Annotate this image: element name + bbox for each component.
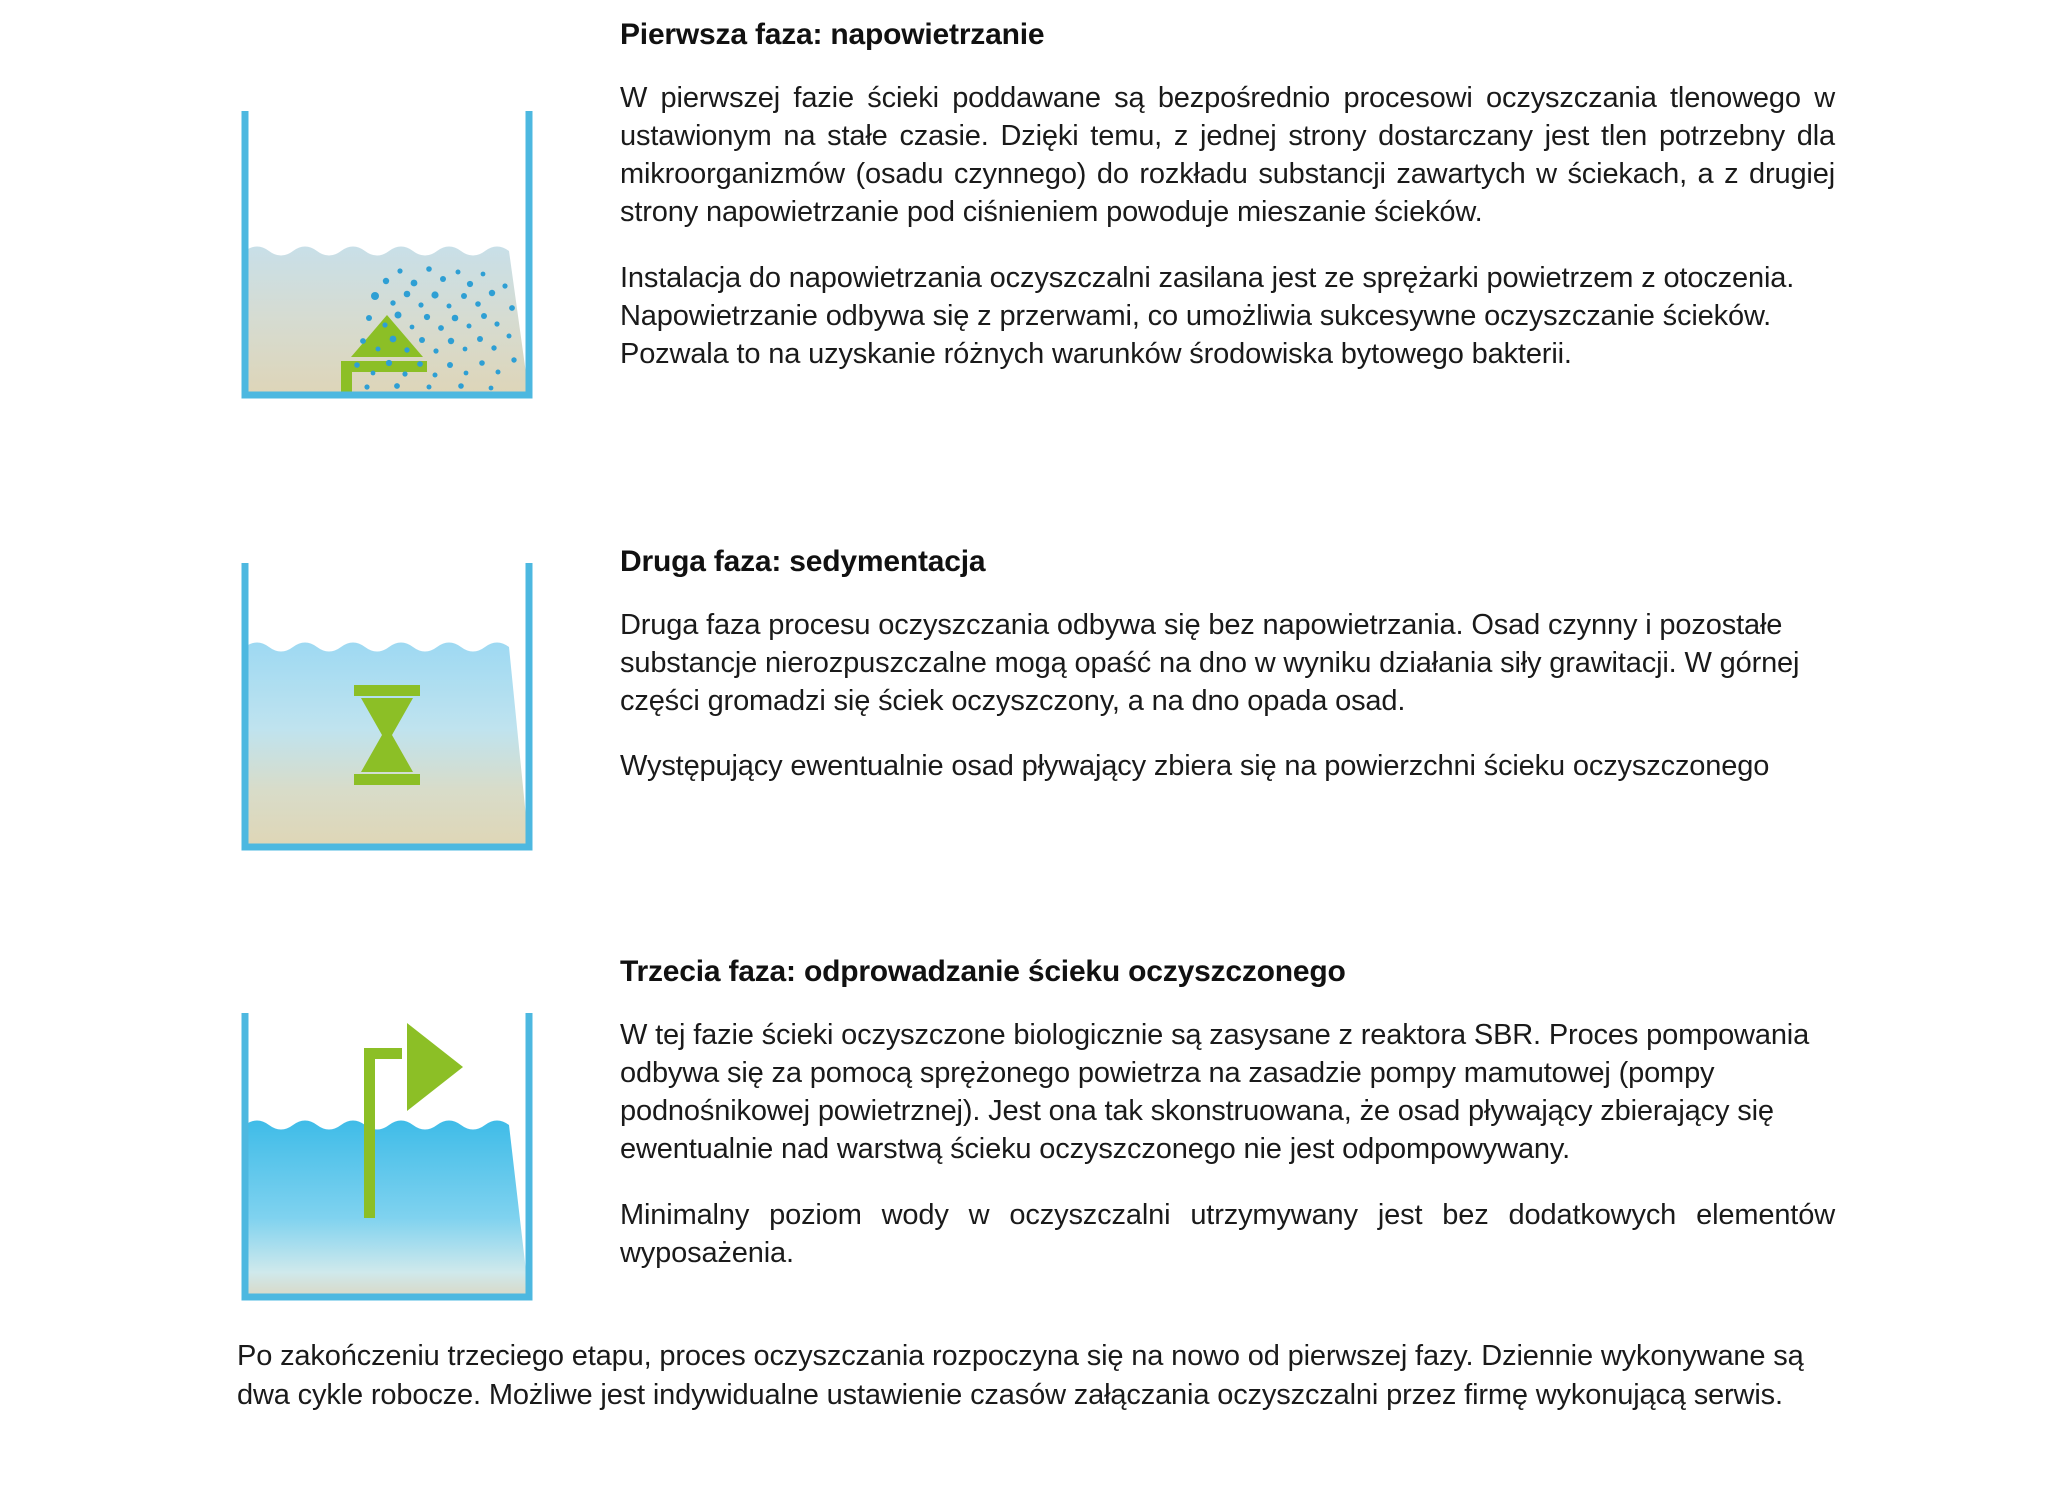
phase-3-paragraph-1: W tej fazie ścieki oczyszczone biologicz… <box>620 1016 1835 1169</box>
phase-1-paragraph-2: Instalacja do napowietrzania oczyszczaln… <box>620 259 1835 374</box>
phase-2-paragraph-2: Występujący ewentualnie osad pływający z… <box>620 747 1835 785</box>
aeration-tank-icon <box>237 103 537 403</box>
closing-note: Po zakończeniu trzeciego etapu, proces o… <box>237 1337 1835 1415</box>
page-root: Pierwsza faza: napowietrzanie W pierwsze… <box>0 0 2048 1487</box>
sedimentation-tank-icon <box>237 555 537 855</box>
phase-1-icon-column <box>237 103 547 403</box>
phase-2-text-column: Druga faza: sedymentacja Druga faza proc… <box>620 545 1835 786</box>
closing-note-text: Po zakończeniu trzeciego etapu, proces o… <box>237 1337 1835 1415</box>
phase-2-heading: Druga faza: sedymentacja <box>620 545 1835 580</box>
phase-2-paragraph-1: Druga faza procesu oczyszczania odbywa s… <box>620 606 1835 721</box>
phase-3-paragraph-2: Minimalny poziom wody w oczyszczalni utr… <box>620 1196 1835 1273</box>
phase-1-paragraph-1: W pierwszej fazie ścieki poddawane są be… <box>620 79 1835 232</box>
phase-1-text-column: Pierwsza faza: napowietrzanie W pierwsze… <box>620 18 1835 373</box>
discharge-tank-icon <box>237 1005 537 1305</box>
phase-3-heading: Trzecia faza: odprowadzanie ścieku oczys… <box>620 955 1835 990</box>
phase-3-text-column: Trzecia faza: odprowadzanie ścieku oczys… <box>620 955 1835 1272</box>
phase-1-heading: Pierwsza faza: napowietrzanie <box>620 18 1835 53</box>
phase-3-icon-column <box>237 1005 547 1305</box>
phase-2-icon-column <box>237 555 547 855</box>
